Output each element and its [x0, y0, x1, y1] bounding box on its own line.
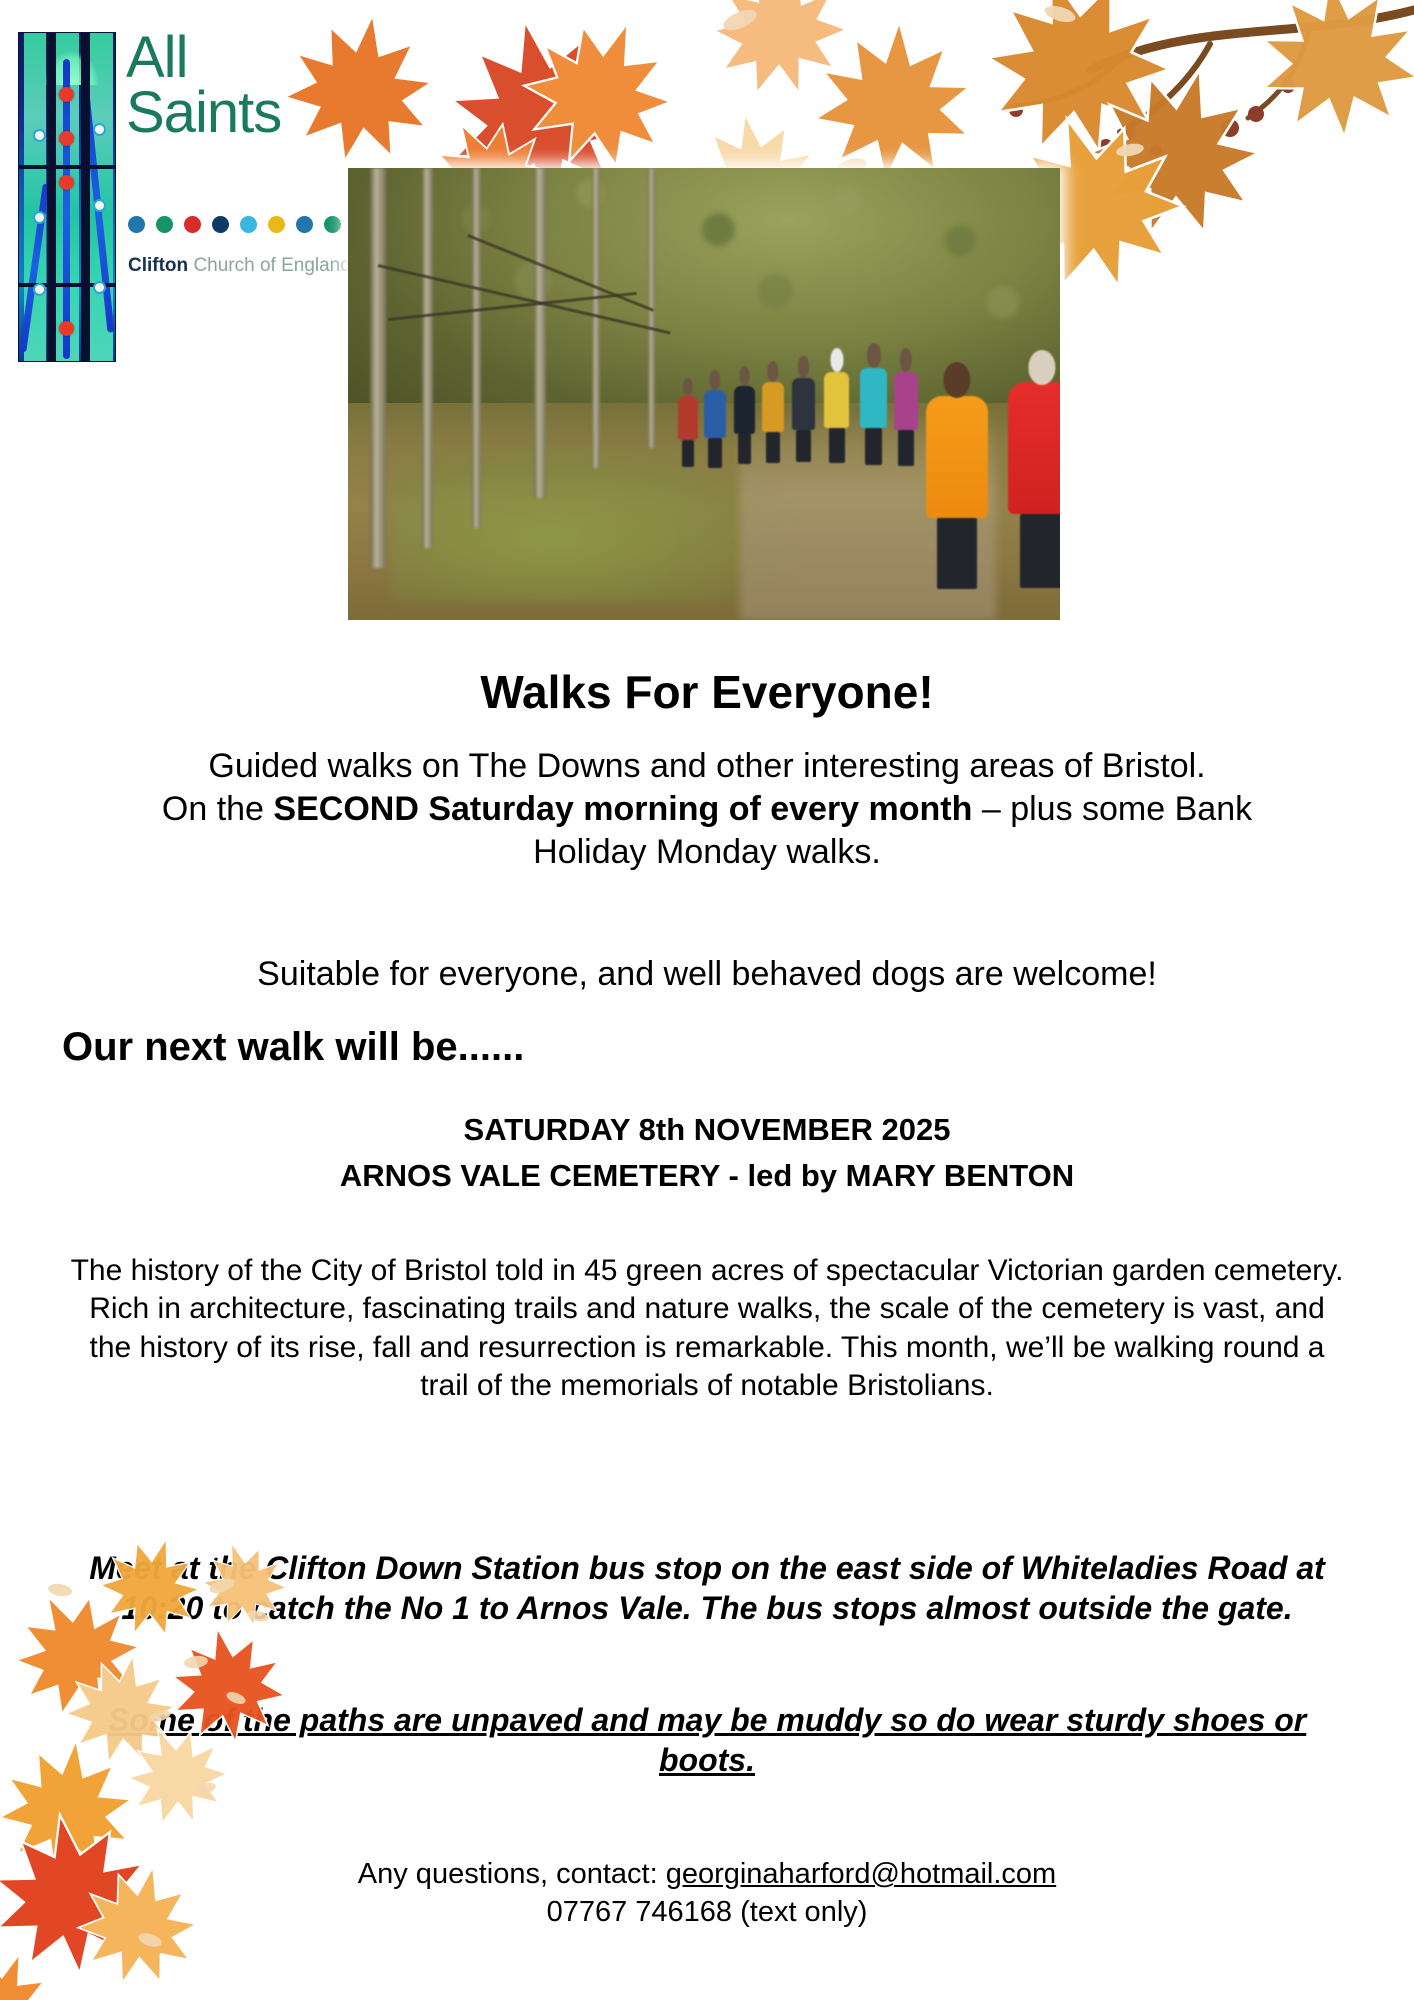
stained-glass-window-icon [18, 32, 116, 362]
photo-walker [762, 382, 784, 432]
intro-paragraph: Guided walks on The Downs and other inte… [60, 745, 1354, 875]
logo-dot-row [128, 216, 341, 233]
next-walk-heading: Our next walk will be...... [62, 1025, 1356, 1070]
photo-walker [860, 368, 887, 428]
intro-line-1: Guided walks on The Downs and other inte… [208, 747, 1205, 785]
photo-walker [824, 372, 849, 428]
logo-line-saints: Saints [126, 85, 356, 140]
contact-prefix: Any questions, contact: [358, 1858, 666, 1890]
dot-yellow [268, 216, 285, 233]
dot-blue [128, 216, 145, 233]
poster-canvas: All Saints Clifton Church of England [0, 0, 1414, 2000]
photo-tree [534, 168, 546, 498]
page-title: Walks For Everyone! [0, 665, 1414, 719]
contact-email[interactable]: georginaharford@hotmail.com [666, 1858, 1057, 1890]
dot-skyblue [240, 216, 257, 233]
footwear-warning: Some of the paths are unpaved and may be… [60, 1700, 1354, 1781]
photo-walker [894, 372, 918, 430]
photo-walker [678, 396, 698, 440]
photo-walker-red [1008, 382, 1060, 514]
photo-tree [472, 168, 481, 528]
walk-date: SATURDAY 8th NOVEMBER 2025 [0, 1112, 1414, 1148]
logo-wordmark: All Saints [126, 30, 356, 140]
photo-moss [391, 448, 790, 602]
dot-blue-2 [296, 216, 313, 233]
logo-caption: Clifton Church of England [128, 255, 351, 277]
photo-tree [370, 168, 386, 568]
dot-navy [212, 216, 229, 233]
walk-location-leader: ARNOS VALE CEMETERY - led by MARY BENTON [0, 1158, 1414, 1194]
dot-red [184, 216, 201, 233]
logo-caption-clifton: Clifton [128, 255, 188, 276]
intro-line-2-bold: SECOND Saturday morning of every month [273, 790, 972, 828]
logo-caption-coe: Church of England [193, 255, 350, 276]
intro-line-2-post: – plus some Bank [972, 790, 1252, 828]
contact-phone: 07767 746168 (text only) [547, 1896, 868, 1928]
intro-line-2-pre: On the [162, 790, 274, 828]
walkers-photo [348, 168, 1060, 620]
photo-walker-orange [926, 396, 988, 518]
dot-green-2 [324, 216, 341, 233]
walk-description: The history of the City of Bristol told … [70, 1252, 1344, 1406]
suitable-note: Suitable for everyone, and well behaved … [60, 955, 1354, 994]
logo-line-all: All [126, 30, 356, 85]
photo-walker [792, 378, 815, 430]
contact-info: Any questions, contact: georginaharford@… [60, 1855, 1354, 1932]
meeting-instructions: Meet at the Clifton Down Station bus sto… [60, 1548, 1354, 1629]
all-saints-logo: All Saints Clifton Church of England [18, 18, 358, 268]
intro-line-3: Holiday Monday walks. [533, 833, 881, 871]
photo-tree [422, 168, 433, 548]
dot-green [156, 216, 173, 233]
photo-walker [704, 390, 726, 438]
photo-walker [734, 386, 755, 434]
